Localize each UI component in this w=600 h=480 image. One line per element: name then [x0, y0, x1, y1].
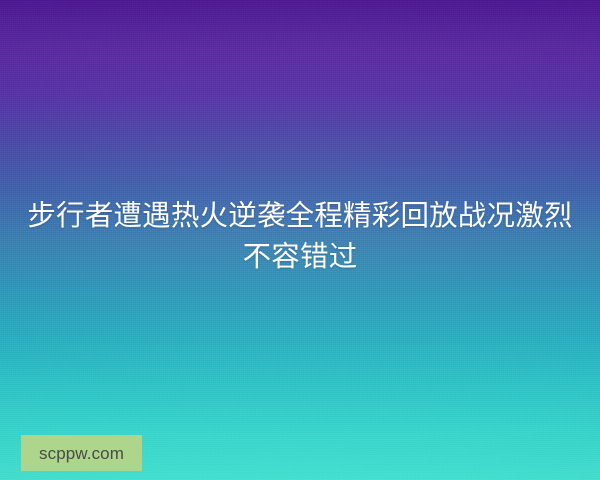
headline-text: 步行者遭遇热火逆袭全程精彩回放战况激烈不容错过 [0, 196, 600, 278]
watermark-badge: scppw.com [21, 435, 142, 471]
watermark-label: scppw.com [39, 445, 124, 462]
promo-banner: 步行者遭遇热火逆袭全程精彩回放战况激烈不容错过 scppw.com [0, 0, 600, 480]
